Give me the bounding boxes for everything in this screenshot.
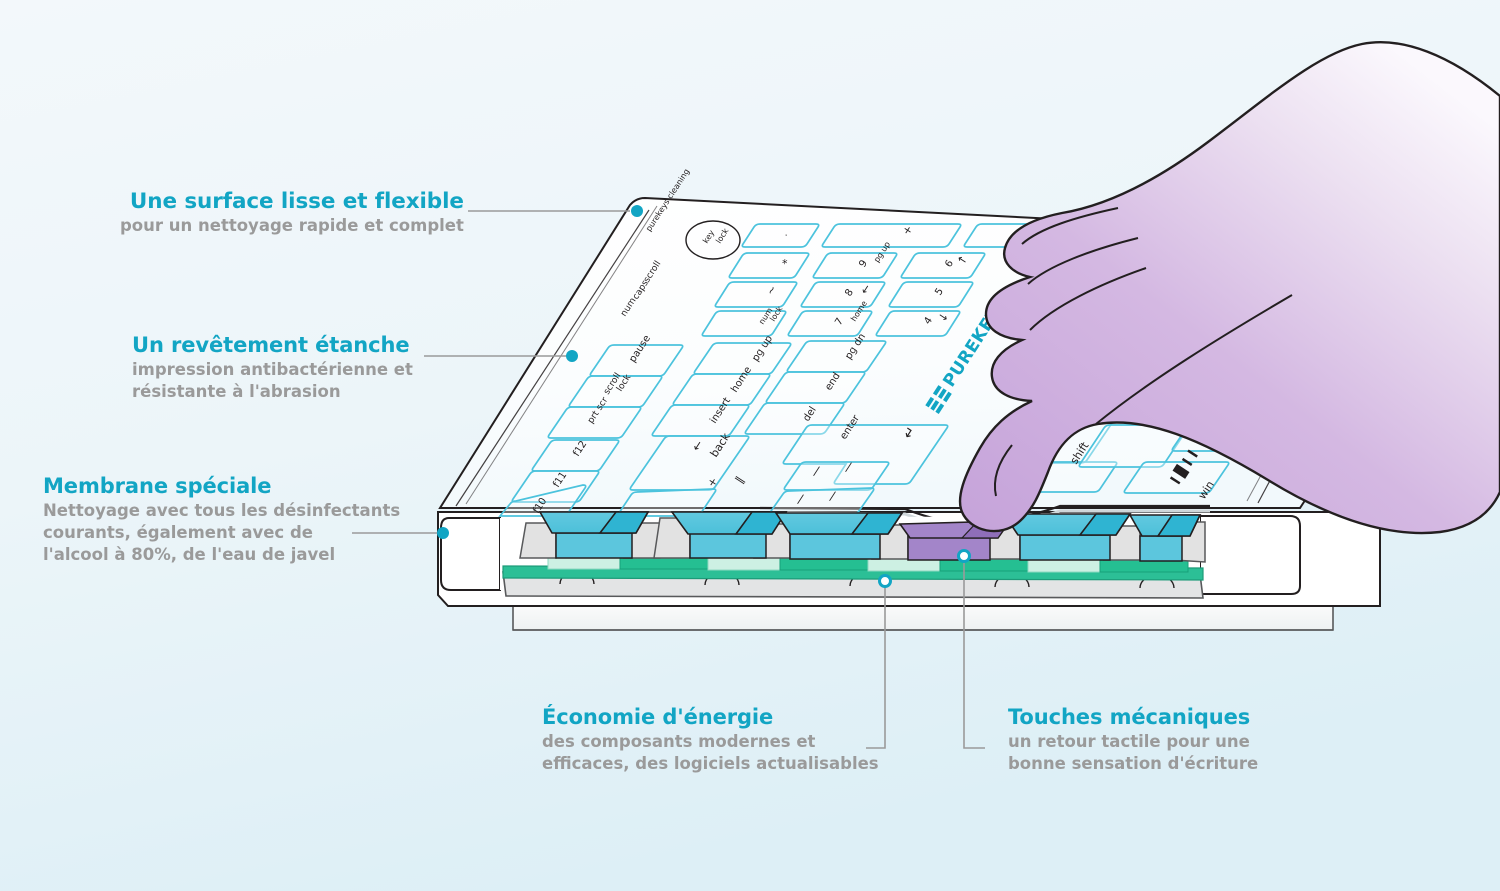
callout-membrane-title: Membrane spéciale [43, 474, 400, 499]
callout-surface-title: Une surface lisse et flexible [120, 189, 464, 214]
callout-membrane-body-line-2: courants, également avec de [43, 522, 400, 543]
callout-coating: Un revêtement étanche impression antibac… [132, 333, 413, 402]
callout-dot-membrane [437, 527, 449, 539]
callout-mechanical-body-line-1: un retour tactile pour une [1008, 731, 1258, 752]
callout-mechanical: Touches mécaniques un retour tactile pou… [1008, 705, 1258, 774]
callout-membrane-body-line-3: l'alcool à 80%, de l'eau de javel [43, 544, 400, 565]
infographic-canvas: purekeys cleaning caps scroll num key lo… [0, 0, 1500, 891]
callout-membrane-body-line-1: Nettoyage avec tous les désinfectants [43, 500, 400, 521]
callout-energy-body-line-2: efficaces, des logiciels actualisables [542, 753, 879, 774]
callout-coating-title: Un revêtement étanche [132, 333, 413, 358]
callout-dot-surface [631, 205, 643, 217]
cavity-left [441, 518, 500, 590]
callout-dot-energy [880, 576, 891, 587]
callout-coating-body-line-1: impression antibactérienne et [132, 359, 413, 380]
cutaway-cross-section [500, 512, 1205, 598]
callout-mechanical-title: Touches mécaniques [1008, 705, 1258, 730]
callout-surface-body-line-1: pour un nettoyage rapide et complet [120, 215, 464, 236]
callout-dot-mechanical [959, 551, 970, 562]
callout-surface: Une surface lisse et flexible pour un ne… [120, 189, 464, 236]
callout-energy-title: Économie d'énergie [542, 705, 879, 730]
callout-energy: Économie d'énergie des composants modern… [542, 705, 879, 774]
callout-mechanical-body-line-2: bonne sensation d'écriture [1008, 753, 1258, 774]
callout-energy-body-line-1: des composants modernes et [542, 731, 879, 752]
callout-dot-coating [566, 350, 578, 362]
callout-coating-body-line-2: résistante à l'abrasion [132, 381, 413, 402]
callout-membrane: Membrane spéciale Nettoyage avec tous le… [43, 474, 400, 565]
cavity-right [1200, 516, 1300, 594]
